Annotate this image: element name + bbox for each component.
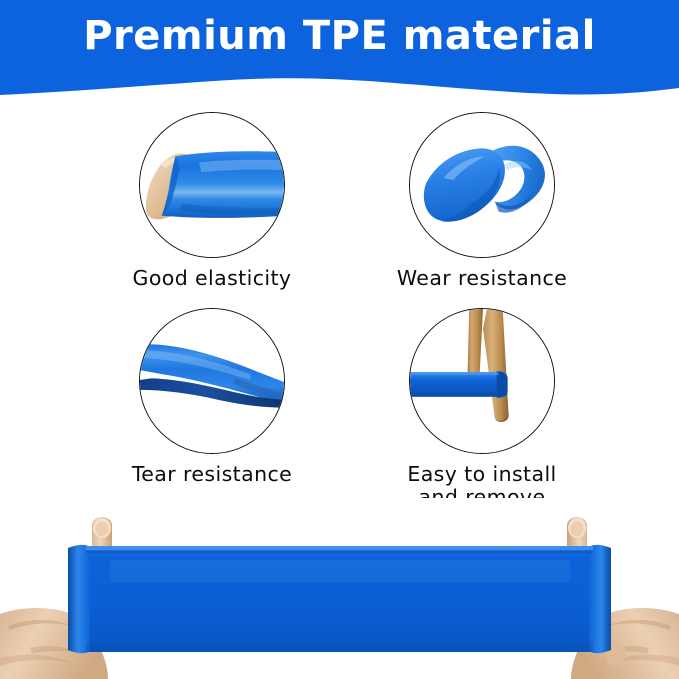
two-hands-stretching-band-icon [0, 498, 679, 679]
feature-label-tear-resistance: Tear resistance [62, 463, 362, 486]
twisted-band-icon [140, 309, 284, 453]
feature-circle-easy-install [409, 308, 555, 454]
folded-band-icon [410, 113, 554, 257]
product-infographic: Premium TPE material [0, 0, 679, 679]
feature-item-good-elasticity: Good elasticity [62, 112, 362, 290]
page-title: Premium TPE material [0, 14, 679, 58]
feature-label-wear-resistance: Wear resistance [332, 267, 632, 290]
feature-label-good-elasticity: Good elasticity [62, 267, 362, 290]
stretched-band-in-fingers-icon [140, 113, 284, 257]
feature-circle-good-elasticity [139, 112, 285, 258]
feature-grid: Good elasticity [0, 112, 679, 522]
feature-circle-tear-resistance [139, 308, 285, 454]
header-banner: Premium TPE material [0, 0, 679, 105]
feature-item-wear-resistance: Wear resistance [332, 112, 632, 290]
feature-circle-wear-resistance [409, 112, 555, 258]
feature-item-easy-install: Easy to install and remove [332, 308, 632, 509]
feature-item-tear-resistance: Tear resistance [62, 308, 362, 486]
hero-hands-band [0, 498, 679, 679]
band-on-chair-legs-icon [410, 309, 554, 453]
